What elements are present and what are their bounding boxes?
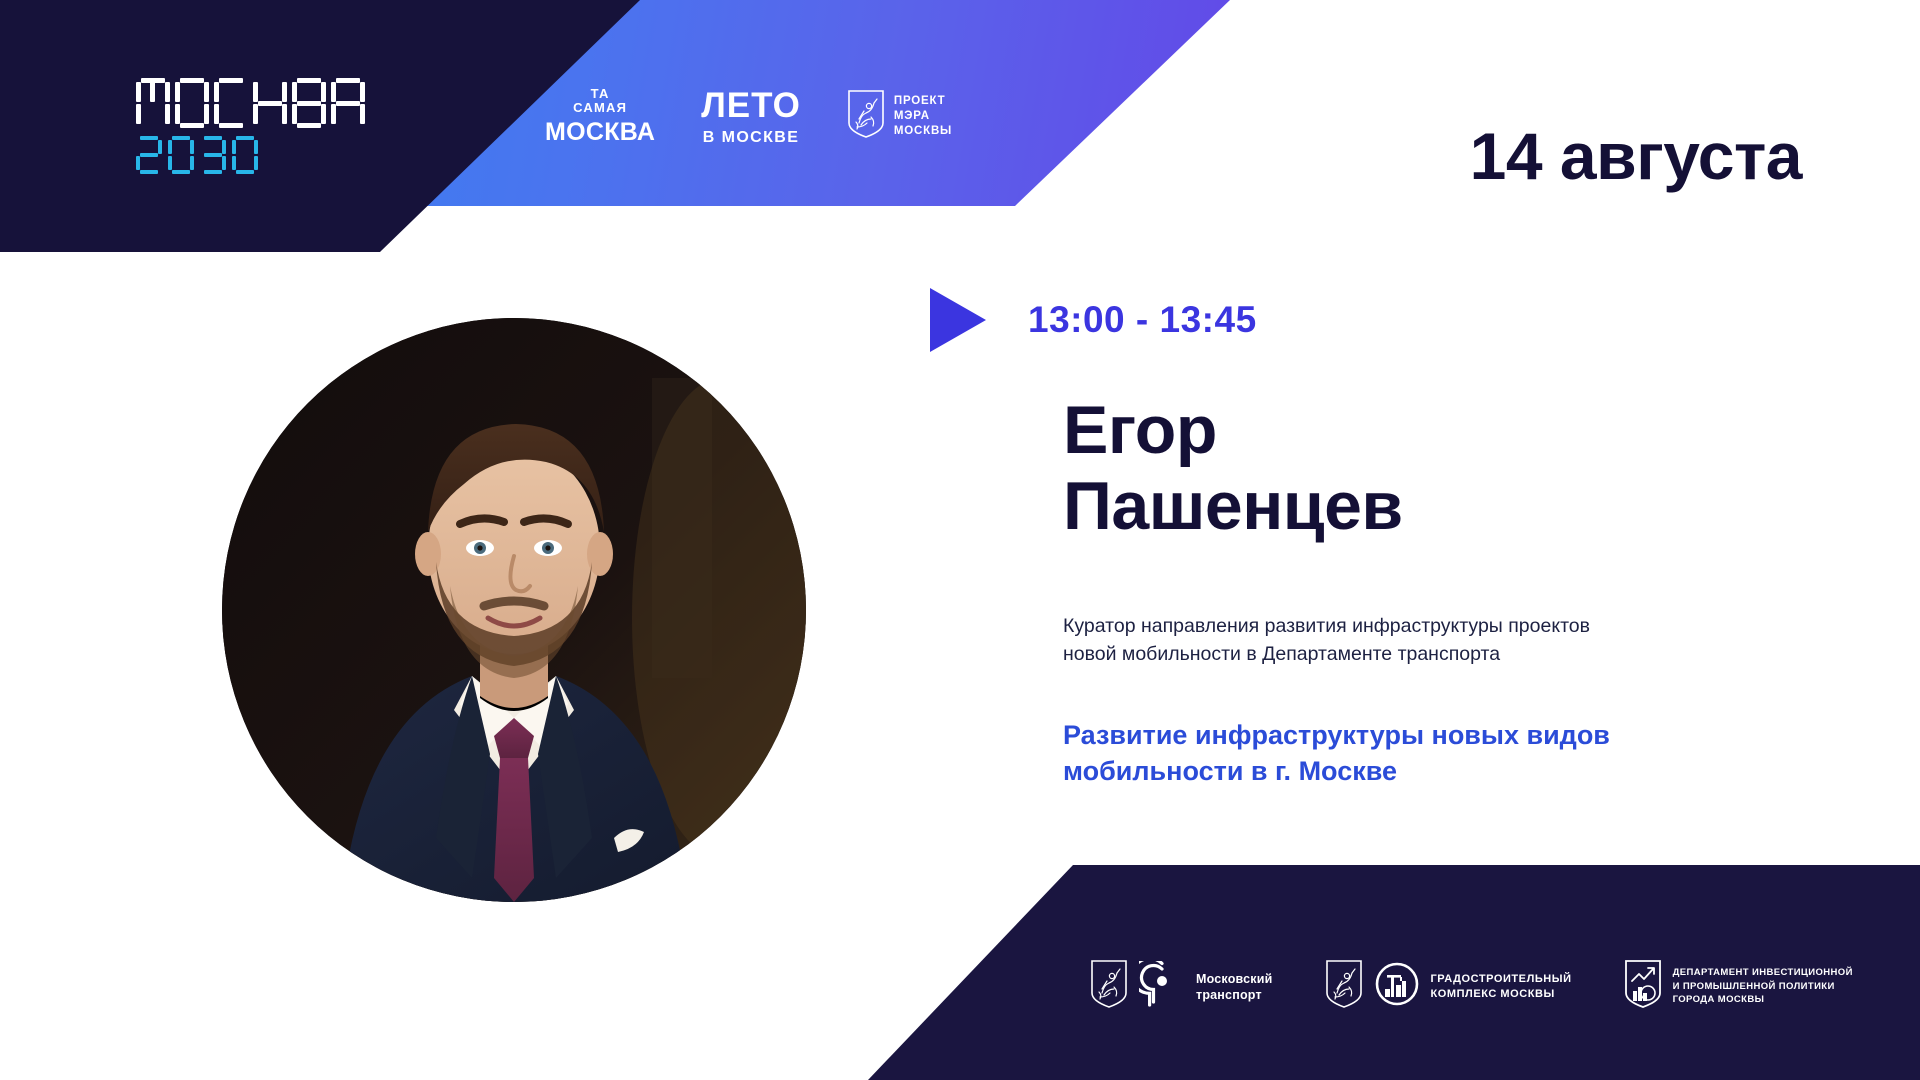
leto-v-moskve-sub: В МОСКВЕ bbox=[703, 129, 800, 147]
proekt-mera-moskvy-text: ПРОЕКТ МЭРА МОСКВЫ bbox=[894, 94, 952, 140]
play-triangle-icon bbox=[930, 288, 986, 352]
logo-proekt-mera-moskvy: ПРОЕКТ МЭРА МОСКВЫ bbox=[847, 89, 952, 144]
session-time: 13:00 - 13:45 bbox=[1028, 299, 1257, 341]
seg-char-v bbox=[292, 78, 326, 128]
seg-char-a bbox=[331, 78, 365, 128]
footer-partner-logos: Московский транспорт bbox=[1090, 959, 1853, 1014]
ta-samaya-moskva-word: МОСКВА bbox=[545, 118, 655, 147]
mt-line-1: Московский bbox=[1196, 971, 1273, 987]
speaker-first-name: Егор bbox=[1063, 392, 1703, 468]
moscow-coat-of-arms-icon bbox=[1325, 959, 1363, 1014]
seg-char-s bbox=[214, 78, 248, 128]
speaker-role-line-2: новой мобильности в Департаменте транспо… bbox=[1063, 641, 1723, 669]
moskva-2030-logo bbox=[136, 78, 370, 174]
logo-moskovskiy-transport: Московский транспорт bbox=[1090, 959, 1273, 1014]
transport-spiral-pin-icon bbox=[1139, 961, 1185, 1012]
seg-char-m bbox=[136, 78, 170, 128]
crane-buildings-circle-icon bbox=[1374, 961, 1420, 1012]
investment-shield-chart-icon bbox=[1624, 959, 1662, 1014]
gk-line-2: КОМПЛЕКС МОСКВЫ bbox=[1431, 987, 1572, 1001]
logo-2030-text bbox=[136, 136, 370, 174]
dip-line-3: ГОРОДА МОСКВЫ bbox=[1673, 993, 1853, 1006]
moscow-coat-of-arms-icon bbox=[1090, 959, 1128, 1014]
speaker-role-line-1: Куратор направления развития инфраструкт… bbox=[1063, 613, 1723, 641]
moskovskiy-transport-text: Московский транспорт bbox=[1196, 971, 1273, 1003]
talk-title: Развитие инфраструктуры новых видов моби… bbox=[1063, 718, 1743, 789]
logo-departament-investitsionnoy-politiki: ДЕПАРТАМЕНТ ИНВЕСТИЦИОННОЙ И ПРОМЫШЛЕННО… bbox=[1624, 959, 1853, 1014]
seg-char-0 bbox=[168, 136, 194, 174]
speaker-last-name: Пашенцев bbox=[1063, 468, 1703, 544]
speaker-role: Куратор направления развития инфраструкт… bbox=[1063, 613, 1723, 668]
mayor-line-2: МЭРА bbox=[894, 109, 952, 124]
seg-char-2 bbox=[136, 136, 162, 174]
logo-gradostroitelnyy-kompleks: ГРАДОСТРОИТЕЛЬНЫЙ КОМПЛЕКС МОСКВЫ bbox=[1325, 959, 1572, 1014]
seg-char-o bbox=[175, 78, 209, 128]
logo-moskva-text bbox=[136, 78, 370, 128]
session-time-row: 13:00 - 13:45 bbox=[930, 288, 1257, 352]
event-announcement-slide: ТА САМАЯ МОСКВА ЛЕТО В МОСКВЕ bbox=[0, 0, 1920, 1080]
dip-line-1: ДЕПАРТАМЕНТ ИНВЕСТИЦИОННОЙ bbox=[1673, 966, 1853, 979]
seg-char-0-2 bbox=[232, 136, 258, 174]
mayor-line-3: МОСКВЫ bbox=[894, 124, 952, 139]
gk-line-1: ГРАДОСТРОИТЕЛЬНЫЙ bbox=[1431, 972, 1572, 986]
logo-ta-samaya-moskva: ТА САМАЯ МОСКВА bbox=[545, 87, 655, 148]
departament-text: ДЕПАРТАМЕНТ ИНВЕСТИЦИОННОЙ И ПРОМЫШЛЕННО… bbox=[1673, 966, 1853, 1006]
moscow-coat-of-arms-icon bbox=[847, 89, 885, 144]
ta-samaya-line1: ТА bbox=[591, 87, 610, 102]
mayor-line-1: ПРОЕКТ bbox=[894, 94, 952, 109]
talk-title-line-1: Развитие инфраструктуры новых видов bbox=[1063, 718, 1743, 754]
seg-char-3 bbox=[200, 136, 226, 174]
speaker-portrait bbox=[222, 318, 806, 902]
leto-word: ЛЕТО bbox=[701, 86, 801, 126]
ta-samaya-line2: САМАЯ bbox=[573, 101, 627, 116]
speaker-name: Егор Пашенцев bbox=[1063, 392, 1703, 544]
mt-line-2: транспорт bbox=[1196, 987, 1273, 1003]
dip-line-2: И ПРОМЫШЛЕННОЙ ПОЛИТИКИ bbox=[1673, 980, 1853, 993]
seg-char-k bbox=[253, 78, 287, 128]
header-partner-logos: ТА САМАЯ МОСКВА ЛЕТО В МОСКВЕ bbox=[545, 86, 952, 148]
logo-leto-v-moskve: ЛЕТО В МОСКВЕ bbox=[701, 86, 801, 148]
gradostroitelnyy-text: ГРАДОСТРОИТЕЛЬНЫЙ КОМПЛЕКС МОСКВЫ bbox=[1431, 972, 1572, 1000]
event-date: 14 августа bbox=[1470, 118, 1802, 194]
talk-title-line-2: мобильности в г. Москве bbox=[1063, 754, 1743, 790]
